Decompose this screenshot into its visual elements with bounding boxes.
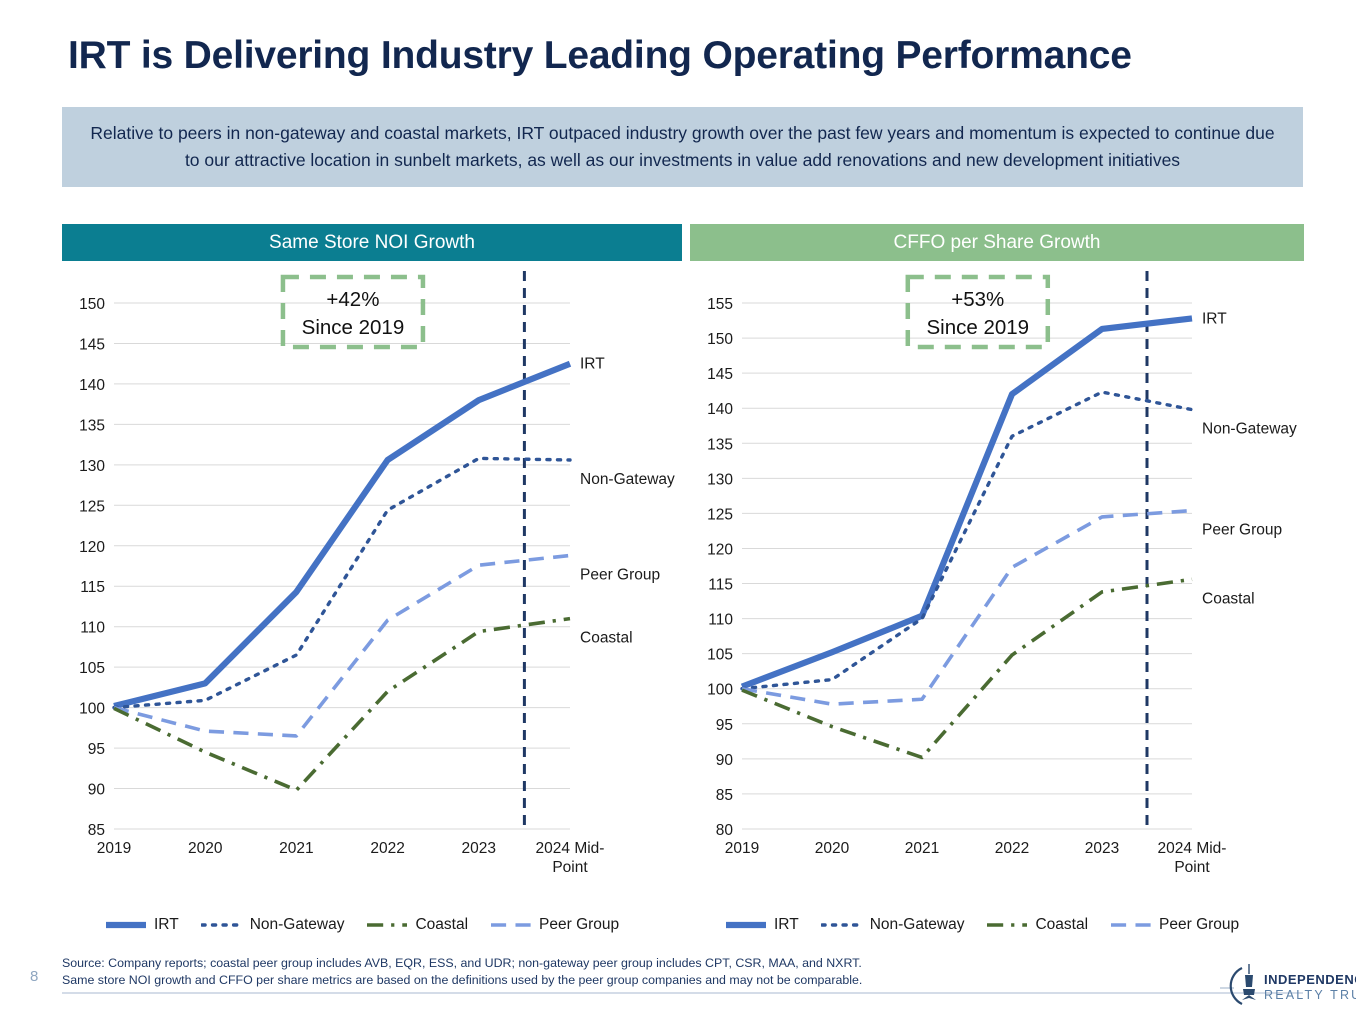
footnote: Source: Company reports; coastal peer gr…: [62, 955, 962, 989]
series-line: [114, 555, 570, 735]
y-axis-tick-label: 125: [79, 498, 105, 515]
series-end-label: Coastal: [580, 630, 633, 647]
x-axis-tick-label: 2022: [370, 840, 404, 857]
company-logo: INDEPENDENCE REALTY TRUST: [1216, 962, 1356, 1010]
x-axis-tick-label: 2019: [725, 840, 759, 857]
y-axis-tick-label: 85: [88, 822, 105, 839]
line-chart-cffo-per-share: 8085909510010511011512012513013514014515…: [690, 261, 1304, 901]
callout-line-1: +53%: [951, 288, 1004, 311]
x-axis-tick-label: 2024 Mid-Point: [536, 840, 605, 876]
callout-line-1: +42%: [326, 288, 379, 311]
subtitle-text: Relative to peers in non-gateway and coa…: [88, 120, 1278, 174]
series-end-label: IRT: [580, 356, 605, 373]
subtitle-band: Relative to peers in non-gateway and coa…: [62, 107, 1303, 187]
y-axis-tick-label: 150: [79, 296, 105, 313]
legend-swatch-solid: [105, 918, 147, 932]
series-line: [114, 458, 570, 707]
y-axis-tick-label: 145: [79, 336, 105, 353]
series-end-label: Non-Gateway: [580, 471, 675, 488]
legend-item: Non-Gateway: [821, 916, 965, 934]
y-axis-tick-label: 115: [80, 579, 105, 596]
y-axis-tick-label: 95: [716, 717, 733, 734]
y-axis-tick-label: 100: [79, 701, 105, 718]
y-axis-tick-label: 100: [707, 682, 733, 699]
series-line: [742, 392, 1192, 689]
legend-label: IRT: [774, 916, 799, 934]
legend-label: Non-Gateway: [870, 916, 965, 934]
slide-root: IRT is Delivering Industry Leading Opera…: [0, 0, 1365, 1027]
legend-swatch-dotted: [821, 918, 863, 932]
legend-item: Coastal: [366, 916, 468, 934]
y-axis-tick-label: 85: [716, 787, 733, 804]
legend-swatch-solid: [725, 918, 767, 932]
legend-item: Coastal: [986, 916, 1088, 934]
y-axis-tick-label: 130: [79, 458, 105, 475]
chart-legend-same-store-noi: IRTNon-GatewayCoastalPeer Group: [105, 916, 641, 934]
series-end-label: IRT: [1202, 310, 1227, 327]
y-axis-tick-label: 105: [707, 647, 733, 664]
legend-swatch-dashdot: [366, 918, 408, 932]
series-end-label: Non-Gateway: [1202, 421, 1297, 438]
callout-line-2: Since 2019: [927, 316, 1030, 339]
footnote-line-2: Same store NOI growth and CFFO per share…: [62, 972, 962, 989]
y-axis-tick-label: 110: [80, 620, 105, 637]
y-axis-tick-label: 145: [707, 366, 733, 383]
chart-title-same-store-noi: Same Store NOI Growth: [62, 224, 682, 261]
y-axis-tick-label: 95: [88, 741, 105, 758]
y-axis-tick-label: 150: [707, 331, 733, 348]
x-axis-tick-label: 2020: [815, 840, 850, 857]
y-axis-tick-label: 115: [708, 577, 733, 594]
legend-label: Peer Group: [539, 916, 619, 934]
y-axis-tick-label: 105: [79, 660, 105, 677]
plot-area-cffo-per-share: 8085909510010511011512012513013514014515…: [690, 261, 1304, 901]
y-axis-tick-label: 155: [707, 296, 733, 313]
series-line: [114, 364, 570, 706]
x-axis-tick-label: 2023: [462, 840, 496, 857]
legend-label: Peer Group: [1159, 916, 1239, 934]
legend-item: Peer Group: [1110, 916, 1239, 934]
x-axis-tick-label: 2020: [188, 840, 223, 857]
y-axis-tick-label: 90: [716, 752, 734, 769]
legend-swatch-dashed: [490, 918, 532, 932]
footnote-line-1: Source: Company reports; coastal peer gr…: [62, 955, 962, 972]
legend-swatch-dotted: [201, 918, 243, 932]
series-line: [114, 619, 570, 791]
x-axis-tick-label: 2022: [995, 840, 1029, 857]
x-axis-tick-label: 2021: [279, 840, 313, 857]
legend-item: IRT: [725, 916, 799, 934]
chart-legend-cffo-per-share: IRTNon-GatewayCoastalPeer Group: [725, 916, 1261, 934]
legend-item: Non-Gateway: [201, 916, 345, 934]
y-axis-tick-label: 120: [707, 541, 733, 558]
y-axis-tick-label: 140: [79, 377, 105, 394]
y-axis-tick-label: 135: [79, 417, 105, 434]
y-axis-tick-label: 110: [708, 612, 733, 629]
page-number: 8: [30, 968, 38, 985]
x-axis-tick-label: 2023: [1085, 840, 1119, 857]
footer-divider: [62, 992, 1303, 994]
series-end-label: Coastal: [1202, 590, 1255, 607]
legend-label: Coastal: [1035, 916, 1088, 934]
y-axis-tick-label: 140: [707, 401, 733, 418]
legend-item: Peer Group: [490, 916, 619, 934]
x-axis-tick-label: 2021: [905, 840, 939, 857]
plot-area-same-store-noi: 8590951001051101151201251301351401451502…: [62, 261, 682, 901]
legend-label: IRT: [154, 916, 179, 934]
logo-name-line-1: INDEPENDENCE: [1264, 972, 1356, 987]
y-axis-tick-label: 135: [707, 436, 733, 453]
lighthouse-icon: INDEPENDENCE REALTY TRUST: [1216, 962, 1356, 1010]
logo-name-line-2: REALTY TRUST: [1264, 988, 1356, 1002]
y-axis-tick-label: 120: [79, 539, 105, 556]
y-axis-tick-label: 125: [707, 506, 733, 523]
chart-panel-same-store-noi: Same Store NOI Growth 859095100105110115…: [62, 224, 682, 924]
y-axis-tick-label: 130: [707, 471, 733, 488]
callout-line-2: Since 2019: [302, 316, 405, 339]
legend-swatch-dashed: [1110, 918, 1152, 932]
legend-swatch-dashdot: [986, 918, 1028, 932]
y-axis-tick-label: 90: [88, 782, 106, 799]
chart-panel-cffo-per-share: CFFO per Share Growth 808590951001051101…: [690, 224, 1304, 924]
series-end-label: Peer Group: [580, 566, 660, 583]
x-axis-tick-label: 2024 Mid-Point: [1158, 840, 1227, 876]
series-line: [742, 318, 1192, 686]
line-chart-same-store-noi: 8590951001051101151201251301351401451502…: [62, 261, 682, 901]
legend-item: IRT: [105, 916, 179, 934]
legend-label: Coastal: [415, 916, 468, 934]
series-line: [742, 579, 1192, 757]
x-axis-tick-label: 2019: [97, 840, 131, 857]
chart-title-cffo-per-share: CFFO per Share Growth: [690, 224, 1304, 261]
legend-label: Non-Gateway: [250, 916, 345, 934]
page-title: IRT is Delivering Industry Leading Opera…: [68, 34, 1308, 78]
series-line: [742, 511, 1192, 705]
y-axis-tick-label: 80: [716, 822, 734, 839]
series-end-label: Peer Group: [1202, 522, 1282, 539]
